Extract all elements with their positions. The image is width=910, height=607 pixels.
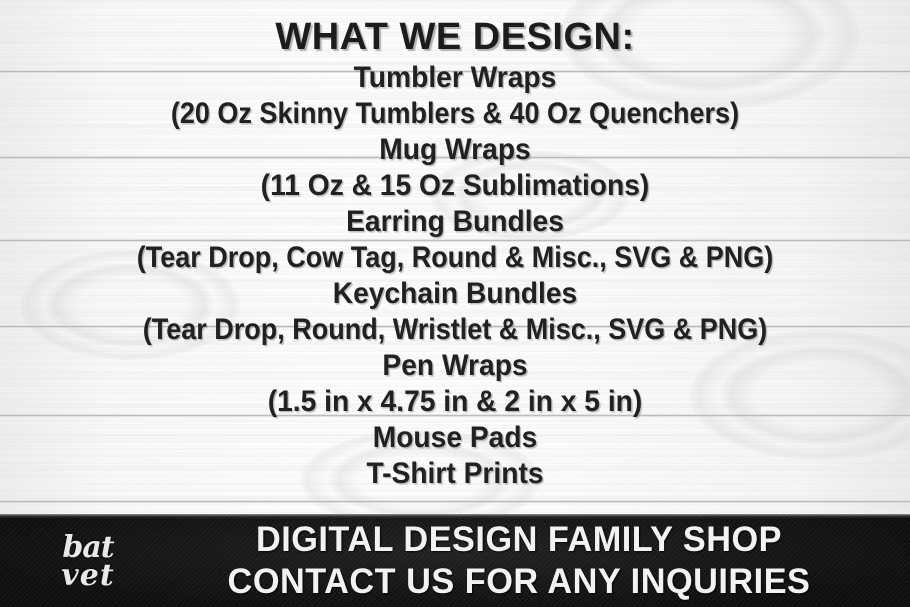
banner-contact-text: CONTACT US FOR ANY INQUIRIES [153,561,884,603]
service-line-tshirt-prints: T-Shirt Prints [27,456,882,492]
service-line-tumbler-wraps: Tumbler Wraps [27,60,882,96]
service-line-mug-wraps: Mug Wraps [27,132,882,168]
banner-inner: bat vet DIGITAL DESIGN FAMILY SHOP CONTA… [0,514,910,607]
brand-logo: bat vet [36,533,140,591]
poster-content: WHAT WE DESIGN: Tumbler Wraps (20 Oz Ski… [0,0,910,492]
service-line-earring-bundles: Earring Bundles [27,204,882,240]
banner-shop-name: DIGITAL DESIGN FAMILY SHOP [153,519,884,561]
brand-logo-line2: vet [36,561,140,591]
design-services-poster: WHAT WE DESIGN: Tumbler Wraps (20 Oz Ski… [0,0,910,607]
service-line-keychain-types: (Tear Drop, Round, Wristlet & Misc., SVG… [46,312,865,348]
service-line-tumbler-sizes: (20 Oz Skinny Tumblers & 40 Oz Quenchers… [46,96,865,132]
service-line-keychain-bundles: Keychain Bundles [27,276,882,312]
bottom-banner: bat vet DIGITAL DESIGN FAMILY SHOP CONTA… [0,514,910,607]
service-line-pen-sizes: (1.5 in x 4.75 in & 2 in x 5 in) [27,384,882,420]
service-line-pen-wraps: Pen Wraps [27,348,882,384]
service-line-earring-types: (Tear Drop, Cow Tag, Round & Misc., SVG … [46,240,865,276]
banner-text-block: DIGITAL DESIGN FAMILY SHOP CONTACT US FO… [146,519,910,603]
page-title: WHAT WE DESIGN: [0,14,910,60]
service-line-mouse-pads: Mouse Pads [27,420,882,456]
service-line-mug-sizes: (11 Oz & 15 Oz Sublimations) [27,168,882,204]
